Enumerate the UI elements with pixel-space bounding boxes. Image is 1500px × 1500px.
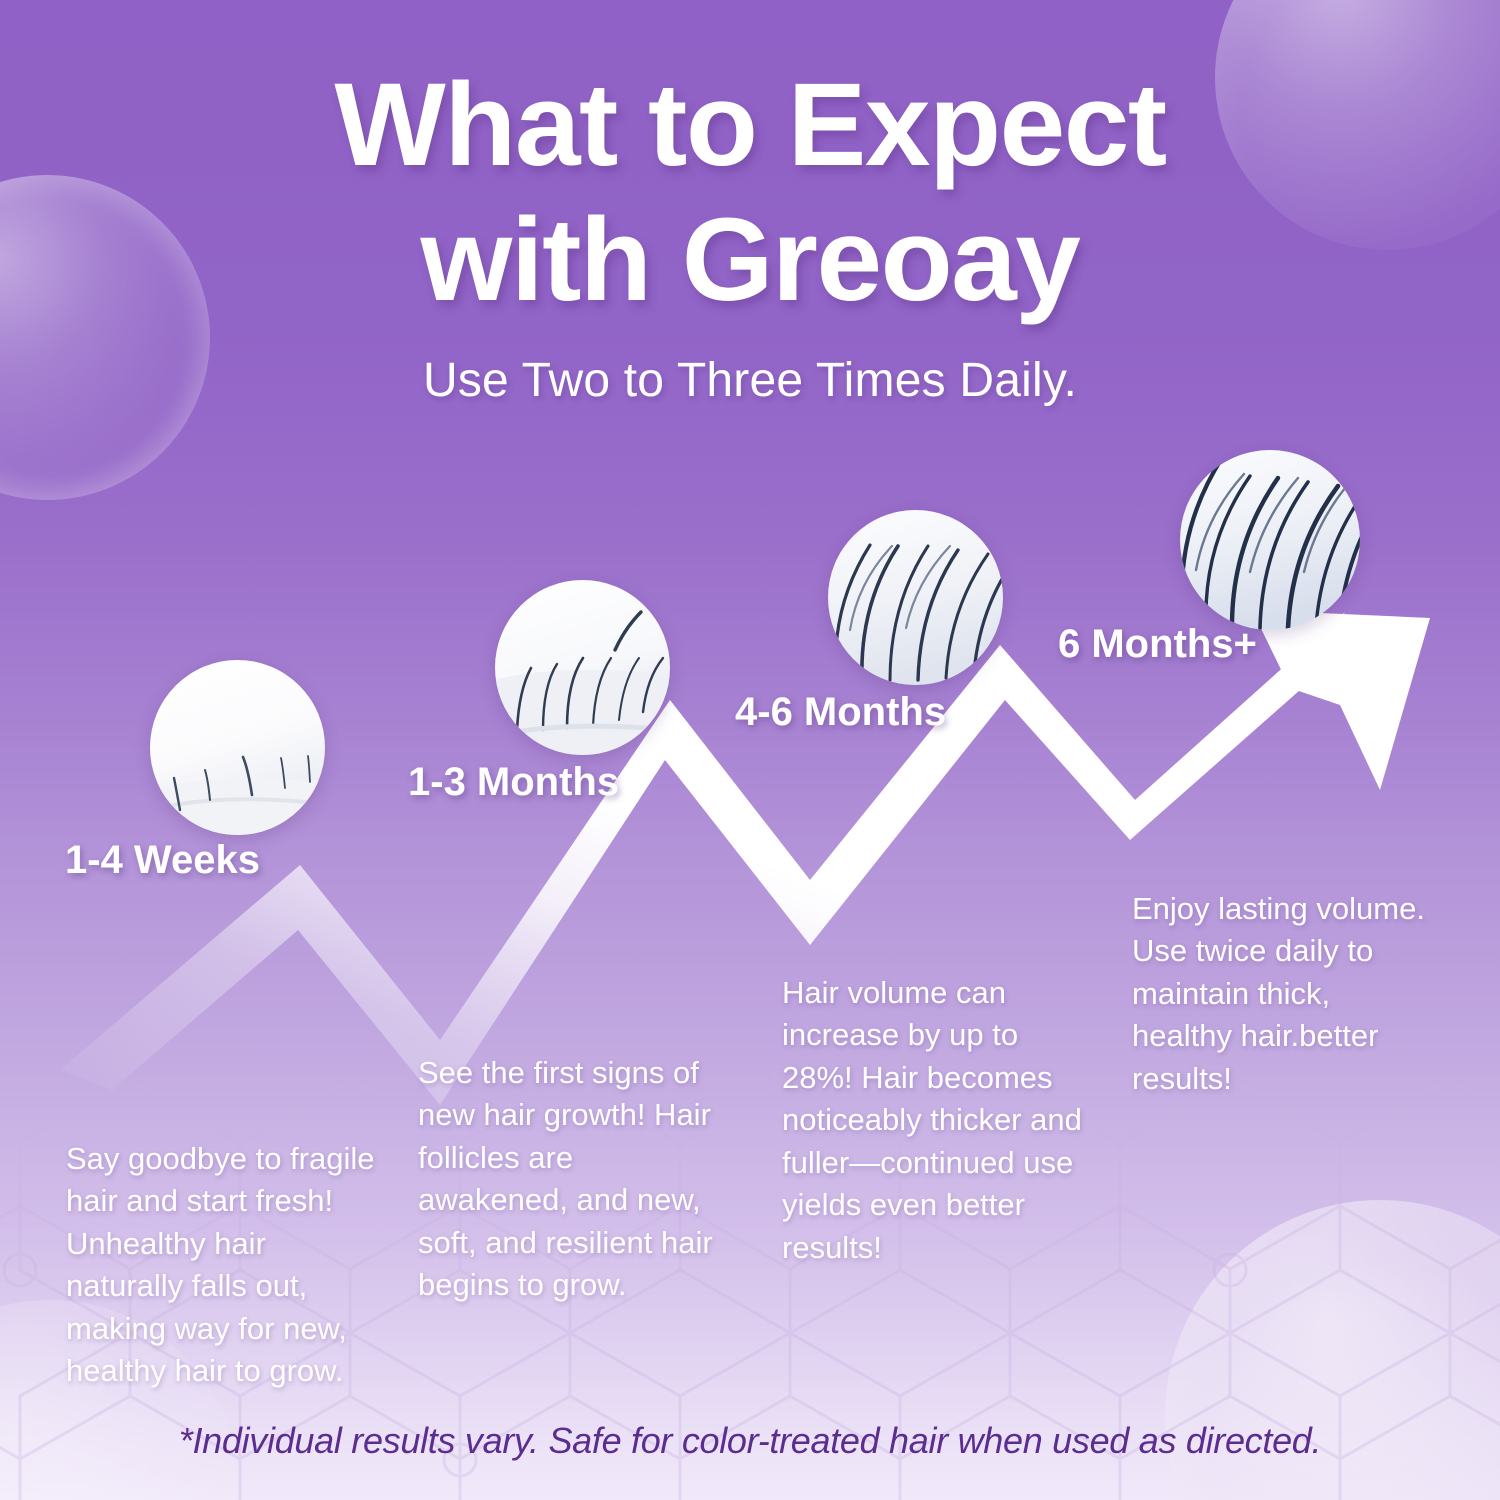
infographic-poster: What to Expect with Greoay Use Two to Th…: [0, 0, 1500, 1500]
stage-photo-1: [150, 660, 325, 835]
page-title-line-2: with Greoay: [0, 193, 1500, 328]
stage-photo-4: [1180, 450, 1360, 630]
stage-photo-3: [828, 510, 1003, 685]
stage-photo-2: [495, 580, 670, 755]
stage-description-2: See the first signs of new hair growth! …: [418, 1052, 718, 1307]
stage-description-4: Enjoy lasting volume. Use twice daily to…: [1132, 888, 1432, 1100]
stage-label-3: 4-6 Months: [735, 690, 946, 735]
stage-label-4: 6 Months+: [1058, 622, 1257, 667]
stage-description-1: Say goodbye to fragile hair and start fr…: [66, 1138, 381, 1393]
stage-description-3: Hair volume can increase by up to 28%! H…: [782, 972, 1092, 1269]
stage-label-1: 1-4 Weeks: [65, 838, 260, 883]
disclaimer-text: *Individual results vary. Safe for color…: [0, 1420, 1500, 1462]
page-subtitle: Use Two to Three Times Daily.: [0, 353, 1500, 408]
poster-header: What to Expect with Greoay Use Two to Th…: [0, 58, 1500, 408]
stage-label-2: 1-3 Months: [408, 760, 619, 805]
page-title-line-1: What to Expect: [0, 58, 1500, 193]
